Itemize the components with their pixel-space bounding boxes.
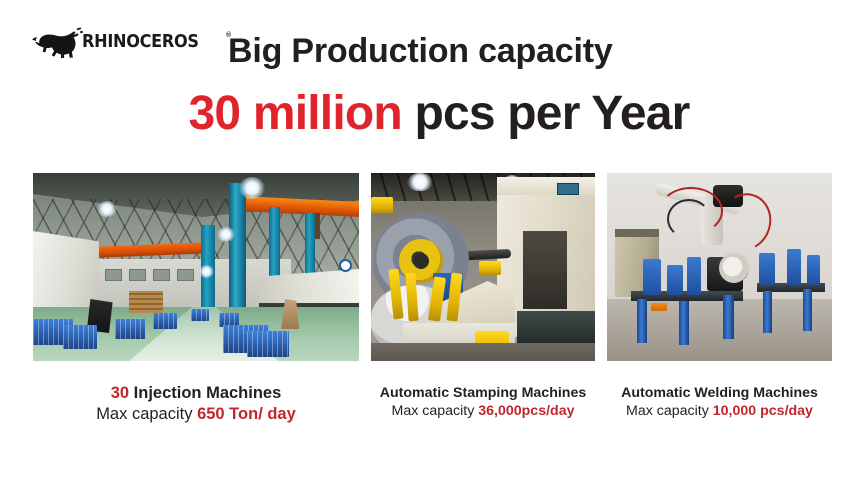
caption-line-2: Max capacity 36,000pcs/day (367, 402, 599, 420)
caption-capacity-label: Max capacity (392, 403, 479, 419)
caption-capacity-value: 10,000 pcs/day (713, 403, 813, 419)
caption-line-2: Max capacity 650 Ton/ day (33, 404, 359, 425)
automatic-stamping-machine-photo (371, 173, 595, 361)
caption-welding: Automatic Welding Machines Max capacity … (603, 384, 836, 421)
headline-highlight: 30 million (189, 87, 402, 140)
caption-capacity-value: 650 Ton/ day (197, 405, 296, 423)
caption-count: 30 (111, 384, 129, 402)
caption-line-2: Max capacity 10,000 pcs/day (603, 402, 836, 420)
page-title: Big Production capacity (0, 32, 864, 71)
caption-capacity-label: Max capacity (96, 405, 197, 423)
caption-line-1: 30 Injection Machines (33, 383, 359, 404)
caption-capacity-value: 36,000pcs/day (478, 403, 574, 419)
headline-rest: pcs per Year (402, 87, 690, 140)
headline: 30 million pcs per Year (0, 86, 864, 141)
caption-line-1: Automatic Welding Machines (603, 384, 836, 402)
caption-capacity-label: Max capacity (626, 403, 713, 419)
caption-injection: 30 Injection Machines Max capacity 650 T… (33, 383, 359, 426)
caption-line-1: Automatic Stamping Machines (367, 384, 599, 402)
caption-title: Automatic Welding Machines (621, 385, 818, 401)
caption-title: Injection Machines (129, 384, 281, 402)
injection-moulding-workshop-photo (33, 173, 359, 361)
header-banner: RHINOCEROS ® Big Production capacity 30 … (0, 0, 864, 160)
caption-stamping: Automatic Stamping Machines Max capacity… (367, 384, 599, 421)
caption-title: Automatic Stamping Machines (380, 385, 587, 401)
automatic-welding-machine-photo (607, 173, 832, 361)
